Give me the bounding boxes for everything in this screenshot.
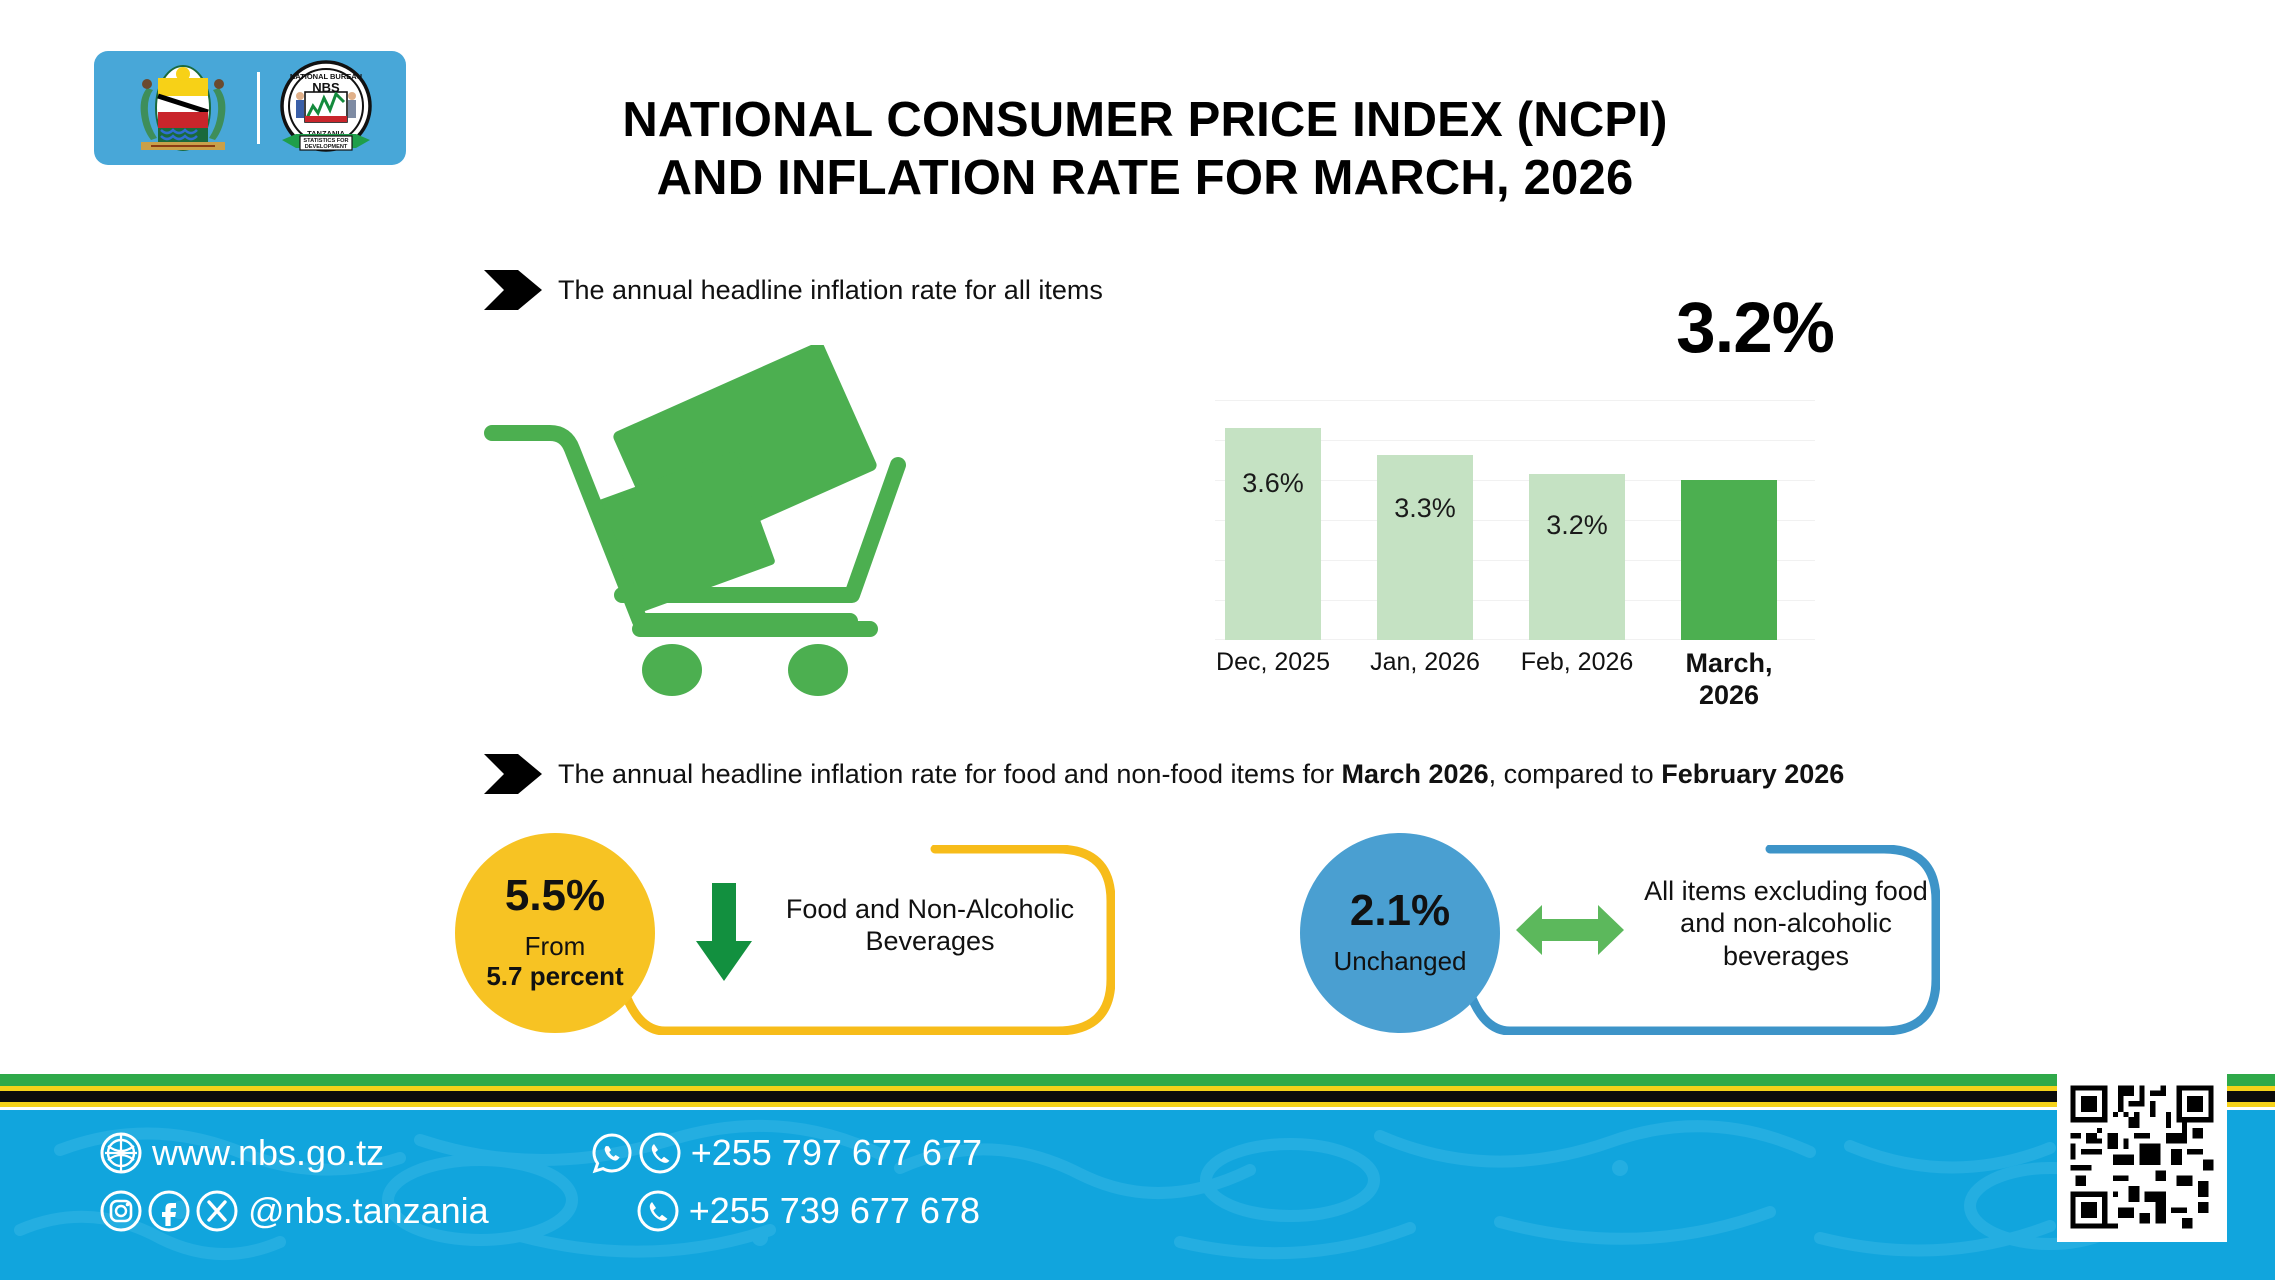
footer-phone1-icons [591,1132,681,1174]
bullet2-bold2: February 2026 [1661,759,1844,789]
svg-text:NBS: NBS [312,80,340,95]
stat-card-core: 2.1% Unchanged All items excluding food … [1300,845,1940,1035]
chevron-bullet-icon [482,752,544,796]
nbs-tanzania-seal-icon: NATIONAL BUREAU NBS TANZANIA STATISTICS … [274,56,378,160]
stat-card-food: 5.5% From 5.7 percent Food and Non-Alcoh… [455,845,1115,1035]
footer-social-icons [100,1190,238,1232]
stat-value-food: 5.5% [505,874,605,918]
inflation-bar-chart: 3.6% Dec, 2025 3.3% Jan, 2026 3.2% Feb, … [1215,400,1895,710]
globe-icon [100,1132,142,1174]
logo-divider [257,72,260,144]
stat-circle-food: 5.5% From 5.7 percent [455,833,655,1033]
qr-code[interactable] [2057,1072,2227,1242]
tanzania-coat-of-arms-icon [123,62,243,154]
footer-col-web-social: www.nbs.go.tz [100,1132,489,1232]
stat-caption-food: Food and Non-Alcoholic Beverages [765,893,1095,958]
logo-container: NATIONAL BUREAU NBS TANZANIA STATISTICS … [94,51,406,165]
bar-label-march-2026: March, 2026 [1671,648,1787,712]
bullet-text-all-items: The annual headline inflation rate for a… [558,275,1103,306]
bar-value-feb-2026: 3.2% [1529,510,1625,541]
headline-inflation-value: 3.2% [1640,288,1870,369]
qr-code-icon [2065,1080,2219,1234]
bullet-row-all-items: The annual headline inflation rate for a… [482,268,1103,312]
stat-sub-food: From 5.7 percent [486,932,623,991]
footer-website-line[interactable]: www.nbs.go.tz [100,1132,489,1174]
svg-text:DEVELOPMENT: DEVELOPMENT [304,144,347,150]
bullet-row-food-nonfood: The annual headline inflation rate for f… [482,752,1844,796]
bar-label-dec-2025: Dec, 2025 [1215,648,1331,678]
footer-social-handle[interactable]: @nbs.tanzania [248,1190,489,1232]
bar-jan-2026: 3.3% [1377,455,1473,640]
bullet2-part1: The annual headline inflation rate for f… [558,759,1342,789]
stat-circle-core: 2.1% Unchanged [1300,833,1500,1033]
bar-dec-2025: 3.6% [1225,428,1321,640]
stripe-yellow-bottom [0,1102,2275,1107]
footer-content: www.nbs.go.tz [100,1132,982,1232]
stat-caption-core: All items excluding food and non-alcohol… [1636,875,1936,972]
instagram-icon[interactable] [100,1190,142,1232]
title-line-2: AND INFLATION RATE FOR MARCH, 2026 [430,150,1860,208]
stat-sub-core: Unchanged [1334,947,1467,977]
bar-value-dec-2025: 3.6% [1225,468,1321,499]
chevron-bullet-icon [482,268,544,312]
footer-social-line[interactable]: @nbs.tanzania [100,1190,489,1232]
tanzania-flag-stripes [0,1074,2275,1110]
footer-phone2-line[interactable]: +255 739 677 678 [637,1190,982,1232]
bullet2-part2: , compared to [1489,759,1662,789]
bullet2-bold1: March 2026 [1342,759,1489,789]
infographic-canvas: NATIONAL BUREAU NBS TANZANIA STATISTICS … [0,0,2275,1280]
arrow-down-icon [695,883,753,983]
bar-march-2026 [1681,480,1777,640]
footer-col-phones: +255 797 677 677 +255 739 677 678 [591,1132,982,1232]
title-line-1: NATIONAL CONSUMER PRICE INDEX (NCPI) [622,93,1667,147]
footer-phone-2[interactable]: +255 739 677 678 [689,1190,980,1232]
bullet-text-food-nonfood: The annual headline inflation rate for f… [558,759,1844,790]
chart-plot-area: 3.6% Dec, 2025 3.3% Jan, 2026 3.2% Feb, … [1215,400,1815,640]
stripe-black [0,1091,2275,1102]
footer-phone-1[interactable]: +255 797 677 677 [691,1132,982,1174]
phone-icon[interactable] [637,1190,679,1232]
bar-label-jan-2026: Jan, 2026 [1367,648,1483,678]
footer-website[interactable]: www.nbs.go.tz [152,1132,384,1174]
footer-phone1-line[interactable]: +255 797 677 677 [591,1132,982,1174]
arrow-left-right-icon [1516,903,1624,957]
stat-value-core: 2.1% [1350,889,1450,933]
bar-value-jan-2026: 3.3% [1377,493,1473,524]
whatsapp-icon[interactable] [591,1132,633,1174]
shopping-cart-icon [480,345,930,700]
bar-feb-2026: 3.2% [1529,474,1625,640]
gridline [1215,400,1815,401]
footer-bar: www.nbs.go.tz [0,1110,2275,1280]
page-title: NATIONAL CONSUMER PRICE INDEX (NCPI) AND… [430,92,1860,208]
phone-icon[interactable] [639,1132,681,1174]
x-twitter-icon[interactable] [196,1190,238,1232]
facebook-icon[interactable] [148,1190,190,1232]
stripe-green [0,1074,2275,1086]
bar-label-feb-2026: Feb, 2026 [1519,648,1635,678]
